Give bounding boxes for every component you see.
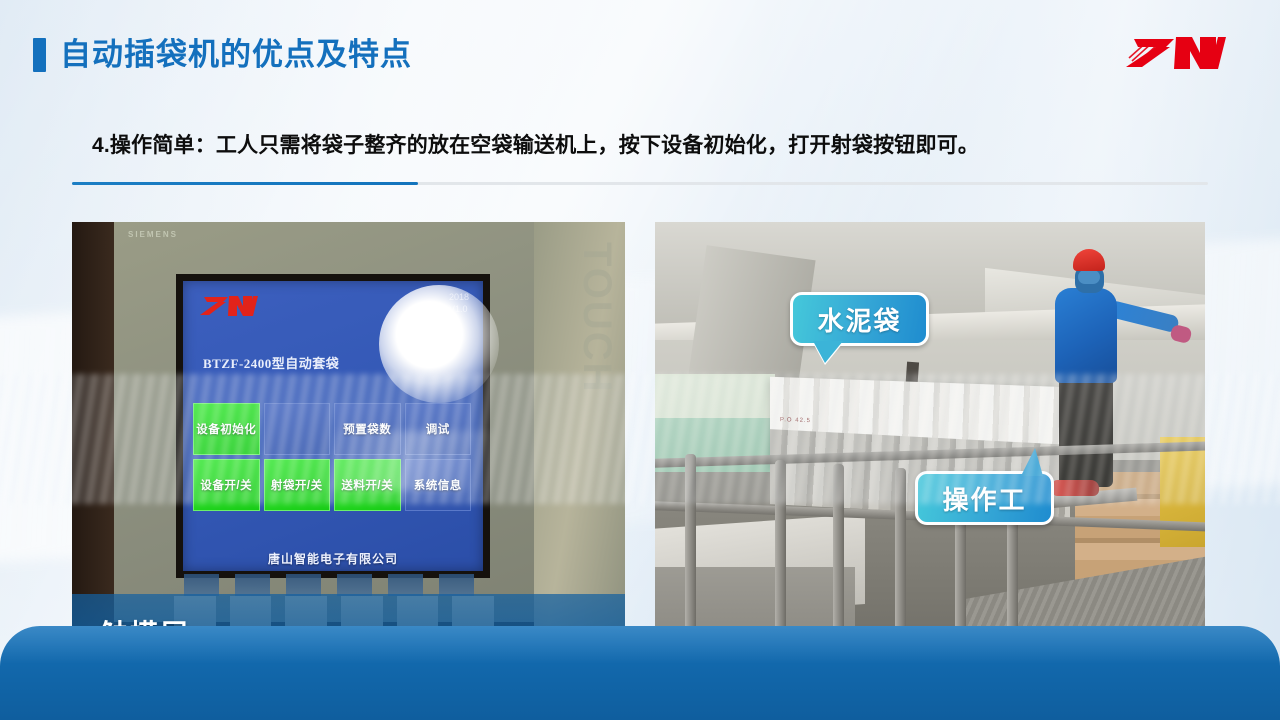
hmi-button-device-toggle[interactable]: 设备开/关 <box>193 459 260 511</box>
hmi-button-debug[interactable]: 调试 <box>405 403 472 455</box>
zn-company-logo <box>1122 27 1232 75</box>
slide-header: 自动插袋机的优点及特点 <box>0 0 1280 100</box>
screen-glare-streak <box>323 431 493 491</box>
worker-legs <box>1059 377 1113 487</box>
hmi-button-preset-count[interactable]: 预置袋数 <box>334 403 401 455</box>
hmi-screen: 2018 V1.0 BTZF-2400型自动套袋 设备初始化 预置袋数 调试 设… <box>176 274 490 578</box>
hmi-button-feed-toggle[interactable]: 送料开/关 <box>334 459 401 511</box>
hmi-button-init[interactable]: 设备初始化 <box>193 403 260 455</box>
worker-face-mask <box>1078 270 1100 284</box>
page-title-text: 自动插袋机的优点及特点 <box>60 38 412 72</box>
footer-band <box>0 626 1280 720</box>
worker-jacket <box>1055 288 1117 383</box>
hmi-button-blank[interactable] <box>264 403 331 455</box>
hmi-button-grid[interactable]: 设备初始化 预置袋数 调试 设备开/关 射袋开/关 送料开/关 系统信息 <box>193 403 471 511</box>
scene-cement-bags-upper: P.O 42.5 <box>770 377 1070 477</box>
section-divider <box>72 182 1208 185</box>
callout-cement-bag-label: 水泥袋 <box>817 301 901 338</box>
siemens-brand-label: SIEMENS <box>128 230 178 239</box>
bag-print-text: P.O 42.5 <box>780 417 811 424</box>
scene-railing-top <box>655 441 1205 468</box>
hmi-zn-logo-icon <box>199 293 259 319</box>
worker-shoes <box>1053 480 1099 496</box>
hmi-company-footer: 唐山智能电子有限公司 <box>183 550 483 567</box>
page-title: 自动插袋机的优点及特点 <box>33 38 412 72</box>
screen-glare-spot <box>379 285 499 403</box>
callout-tail-icon <box>813 341 843 363</box>
title-marker-icon <box>33 38 46 72</box>
hmi-corner-info: 2018 V1.0 <box>449 291 469 315</box>
callout-operator: 操作工 <box>915 471 1054 525</box>
slide-canvas: 自动插袋机的优点及特点 4.操作简单：工人只需将袋子整齐的放在空袋输送机上，按下… <box>0 0 1280 720</box>
callout-cement-bag: 水泥袋 <box>790 292 929 346</box>
factory-conveyor-photo: P.O 42.5 <box>655 222 1205 675</box>
hmi-bezel: SIEMENS 2018 V1.0 BTZF-2400型自动套袋 <box>114 222 534 622</box>
hmi-button-system-info[interactable]: 系统信息 <box>405 459 472 511</box>
callout-operator-label: 操作工 <box>942 480 1026 517</box>
touchscreen-hmi-photo: SIEMENS 2018 V1.0 BTZF-2400型自动套袋 <box>72 222 625 672</box>
scene-machine-housing <box>655 374 775 504</box>
touch-bezel-text: TOUCH <box>574 242 619 393</box>
hmi-model-title: BTZF-2400型自动套袋 <box>203 353 339 372</box>
hmi-button-shoot-bag-toggle[interactable]: 射袋开/关 <box>264 459 331 511</box>
slide-subtitle: 4.操作简单：工人只需将袋子整齐的放在空袋输送机上，按下设备初始化，打开射袋按钮… <box>92 131 1222 161</box>
callout-tail-icon <box>1021 448 1043 476</box>
section-divider-accent <box>72 182 418 185</box>
